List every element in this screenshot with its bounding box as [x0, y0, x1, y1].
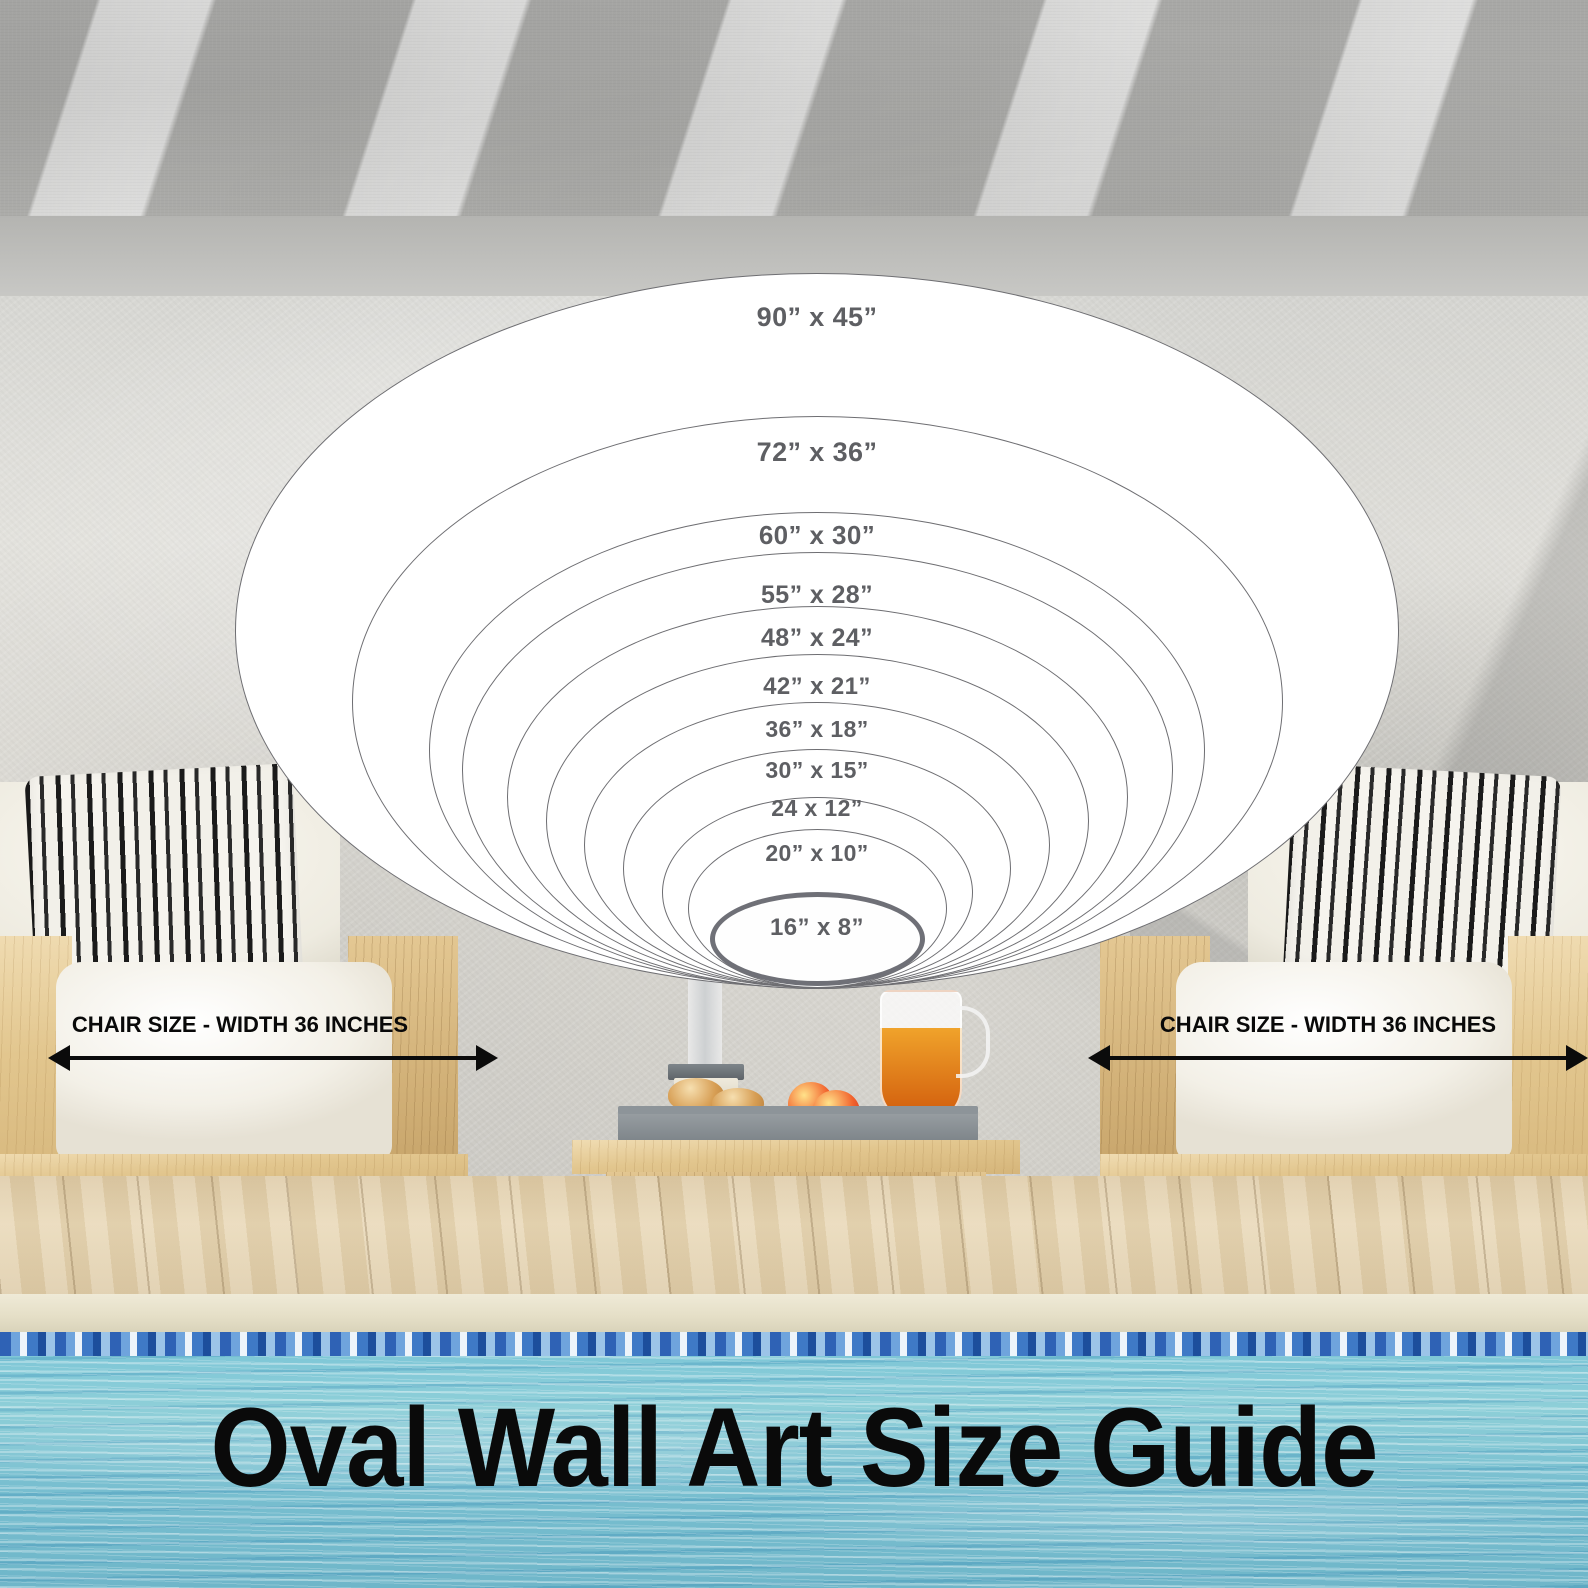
oval-label-16x8: 16” x 8”: [23, 914, 1588, 942]
oval-label-20x10: 20” x 10”: [23, 840, 1588, 867]
oval-label-36x18: 36” x 18”: [23, 716, 1588, 743]
oval-label-55x28: 55” x 28”: [23, 581, 1588, 610]
pool-mosaic-tile-band: [0, 1332, 1588, 1358]
oval-label-72x36: 72” x 36”: [23, 437, 1588, 468]
pool-coping-stone: [0, 1294, 1588, 1334]
oval-label-48x24: 48” x 24”: [23, 624, 1588, 653]
oval-label-30x15: 30” x 15”: [23, 757, 1588, 784]
oval-label-60x30: 60” x 30”: [23, 520, 1588, 551]
wood-deck: [0, 1176, 1588, 1296]
oval-label-24x12: 24 x 12”: [23, 795, 1588, 822]
size-guide-scene: CHAIR SIZE - WIDTH 36 INCHES CHAIR SIZE …: [0, 0, 1588, 1588]
page-title: Oval Wall Art Size Guide: [64, 1392, 1525, 1504]
oval-label-42x21: 42” x 21”: [23, 673, 1588, 701]
oval-label-90x45: 90” x 45”: [23, 302, 1588, 333]
